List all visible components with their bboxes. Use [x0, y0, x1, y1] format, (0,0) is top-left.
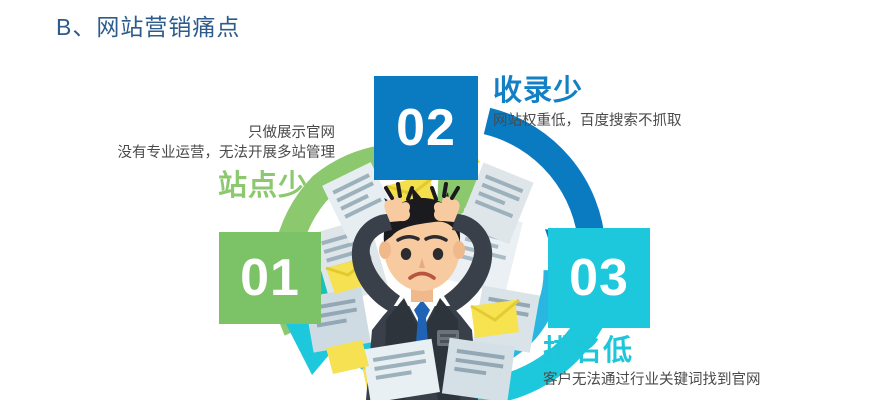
slide-root: B、网站营销痛点 — [0, 0, 889, 400]
pain-point-label-03: 排名低 客户无法通过行业关键词找到官网 — [543, 336, 761, 391]
pain-point-number-02: 02 — [374, 76, 478, 180]
pain-point-01-heading: 站点少 — [70, 171, 335, 202]
pain-point-03-subline-1: 客户无法通过行业关键词找到官网 — [543, 371, 761, 391]
pain-point-02-heading: 收录少 — [493, 76, 682, 107]
flying-papers-front — [326, 338, 515, 400]
yellow-envelope — [471, 300, 519, 338]
pain-point-01-subline-2: 没有专业运营，无法开展多站管理 — [70, 144, 335, 164]
pain-point-number-03: 03 — [548, 228, 650, 328]
pain-point-label-02: 收录少 网站权重低，百度搜索不抓取 — [493, 76, 682, 132]
pain-point-01-subline-1: 只做展示官网 — [70, 124, 335, 144]
pain-point-03-heading: 排名低 — [543, 336, 761, 367]
pain-point-02-subline-1: 网站权重低，百度搜索不抓取 — [493, 112, 682, 132]
pain-point-number-01: 01 — [219, 232, 321, 324]
pain-point-label-01: 只做展示官网 没有专业运营，无法开展多站管理 站点少 — [70, 124, 335, 202]
